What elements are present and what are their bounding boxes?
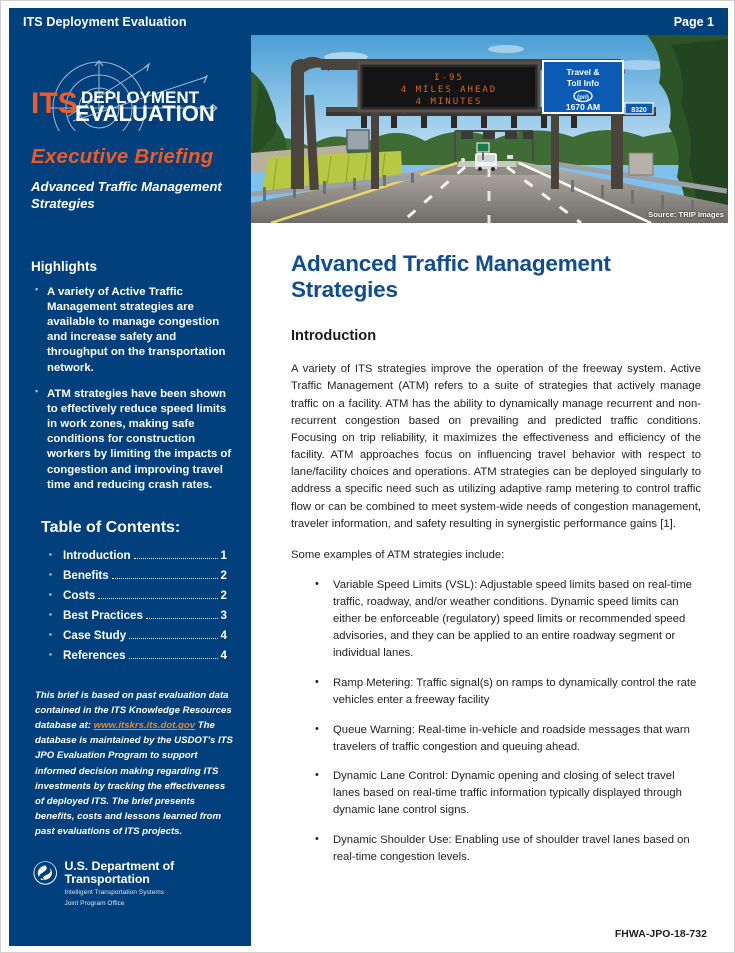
svg-text:I-95: I-95: [434, 73, 464, 83]
table-of-contents-heading: Table of Contents:: [41, 519, 251, 537]
header-page-number: Page 1: [674, 15, 714, 29]
toc-page-number: 4: [221, 650, 227, 662]
toc-label: Best Practices: [63, 610, 143, 622]
highlights-heading: Highlights: [31, 259, 251, 274]
toc-label: References: [63, 650, 126, 662]
page-title: Advanced Traffic Management Strategies: [291, 251, 701, 302]
toc-item-best-practices[interactable]: Best Practices 3: [49, 610, 227, 622]
toc-label: Introduction: [63, 550, 131, 562]
toc-item-references[interactable]: References 4: [49, 650, 227, 662]
toc-page-number: 2: [221, 570, 227, 582]
logo-its-text: ITS: [31, 87, 78, 120]
list-item-ramp-metering: Ramp Metering: Traffic signal(s) on ramp…: [313, 675, 701, 709]
svg-text:4 MINUTES: 4 MINUTES: [416, 97, 483, 107]
svg-text:8320: 8320: [631, 107, 647, 114]
logo-evaluation-text: EVALUATION: [75, 101, 215, 126]
toc-item-case-study[interactable]: Case Study 4: [49, 630, 227, 642]
svg-text:Toll Info: Toll Info: [567, 78, 599, 88]
examples-lead-in: Some examples of ATM strategies include:: [291, 547, 701, 564]
header-title: ITS Deployment Evaluation: [23, 15, 187, 29]
toc-page-number: 2: [221, 590, 227, 602]
list-item-dynamic-shoulder-use: Dynamic Shoulder Use: Enabling use of sh…: [313, 832, 701, 866]
section-heading-introduction: Introduction: [291, 328, 701, 344]
toc-item-introduction[interactable]: Introduction 1: [49, 550, 227, 562]
toc-page-number: 1: [221, 550, 227, 562]
toc-leader-dots: [146, 611, 218, 619]
usdot-sub-line-2: Joint Program Office: [64, 899, 251, 908]
list-item-queue-warning: Queue Warning: Real-time in-vehicle and …: [313, 722, 701, 756]
brief-subtitle: Advanced Traffic Management Strategies: [31, 179, 229, 213]
photo-credit: Source: TRIP Images: [648, 210, 724, 219]
its-deployment-evaluation-logo: ITS DEPLOYMENT EVALUATION: [31, 59, 236, 131]
svg-text:1670 AM: 1670 AM: [566, 102, 600, 112]
list-item: ATM strategies have been shown to effect…: [35, 387, 237, 493]
page-header-bar: ITS Deployment Evaluation Page 1: [9, 8, 728, 35]
usdot-name: U.S. Department of Transportation: [64, 860, 251, 886]
toc-item-benefits[interactable]: Benefits 2: [49, 570, 227, 582]
svg-text:(pri): (pri): [577, 95, 589, 101]
toc-leader-dots: [134, 551, 218, 559]
toc-label: Case Study: [63, 630, 126, 642]
toc-item-costs[interactable]: Costs 2: [49, 590, 227, 602]
list-item-dynamic-lane-control: Dynamic Lane Control: Dynamic opening an…: [313, 768, 701, 819]
executive-briefing-label: Executive Briefing: [31, 145, 251, 169]
main-content: Advanced Traffic Management Strategies I…: [251, 223, 728, 946]
highway-photo-illustration: I-95 4 MILES AHEAD 4 MINUTES Travel & To…: [251, 35, 728, 223]
usdot-triskelion-icon: [33, 860, 57, 886]
toc-leader-dots: [129, 631, 217, 639]
toc-label: Costs: [63, 590, 95, 602]
sidebar: ITS DEPLOYMENT EVALUATION Executive Brie…: [9, 35, 251, 946]
toc-label: Benefits: [63, 570, 109, 582]
header-photo-highway: I-95 4 MILES AHEAD 4 MINUTES Travel & To…: [251, 35, 728, 223]
document-number: FHWA-JPO-18-732: [615, 929, 707, 940]
exit-number-tab: 8320: [625, 103, 653, 114]
highlights-list: A variety of Active Traffic Management s…: [35, 285, 237, 493]
table-of-contents-list: Introduction 1 Benefits 2 Costs 2 Best P…: [49, 550, 251, 662]
toc-page-number: 3: [221, 610, 227, 622]
itskrs-link[interactable]: www.itskrs.its.dot.gov: [94, 720, 195, 731]
toc-leader-dots: [98, 591, 217, 599]
logo-graphic-icon: ITS DEPLOYMENT EVALUATION: [31, 59, 236, 131]
travel-toll-info-sign: Travel & Toll Info (pri) 1670 AM: [543, 61, 623, 113]
document-page: ITS Deployment Evaluation Page 1: [0, 0, 735, 953]
toc-leader-dots: [112, 571, 218, 579]
source-note: This brief is based on past evaluation d…: [35, 688, 233, 840]
svg-text:Travel &: Travel &: [566, 67, 599, 77]
usdot-sub-line-1: Intelligent Transportation Systems: [64, 888, 251, 897]
svg-text:4 MILES AHEAD: 4 MILES AHEAD: [401, 85, 497, 95]
intro-paragraph: A variety of ITS strategies improve the …: [291, 361, 701, 533]
toc-leader-dots: [129, 651, 218, 659]
atm-strategies-list: Variable Speed Limits (VSL): Adjustable …: [313, 577, 701, 866]
usdot-logo: U.S. Department of Transportation Intell…: [33, 860, 251, 908]
list-item-variable-speed-limits: Variable Speed Limits (VSL): Adjustable …: [313, 577, 701, 662]
toc-page-number: 4: [221, 630, 227, 642]
variable-message-sign: I-95 4 MILES AHEAD 4 MINUTES: [359, 63, 539, 111]
list-item: A variety of Active Traffic Management s…: [35, 285, 237, 376]
source-note-text-after: The database is maintained by the USDOT'…: [35, 720, 233, 837]
